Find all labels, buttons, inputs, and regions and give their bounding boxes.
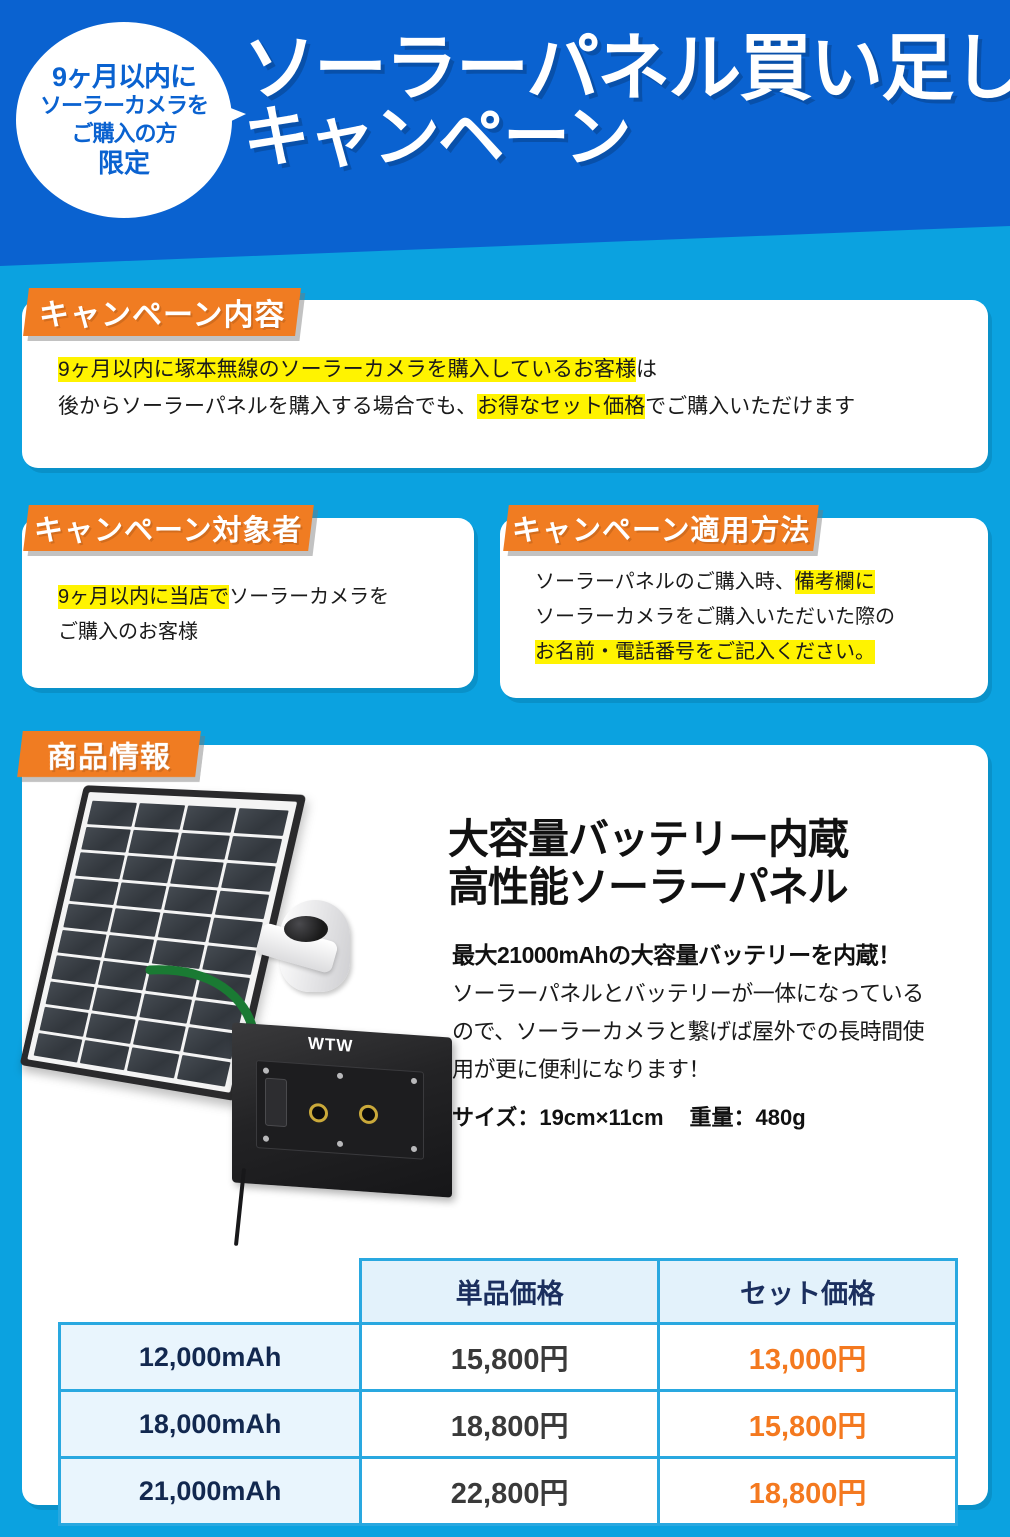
product-description: ソーラーパネルとバッテリーが一体になっている ので、ソーラーカメラと繋げば屋外で… (452, 975, 957, 1088)
headline-line-2: キャンペーン (243, 105, 1010, 170)
product-title-line-2: 高性能ソーラーパネル (448, 863, 848, 911)
method-line-1-highlight: 備考欄に (795, 570, 875, 594)
product-size: サイズ：19cm×11cm (452, 1105, 664, 1130)
table-row: 12,000mAh 15,800円 13,000円 (60, 1324, 957, 1391)
mount-pivot-knob (284, 916, 328, 942)
product-weight: 重量：480g (690, 1105, 806, 1130)
set-price-12000: 13,000円 (659, 1324, 957, 1391)
badge-campaign-method: キャンペーン適用方法 (503, 505, 819, 551)
badge-product-info-label: 商品情報 (47, 732, 171, 776)
campaign-content-text: 9ヶ月以内に塚本無線のソーラーカメラを購入しているお客様は 後からソーラーパネル… (58, 352, 948, 426)
power-switch (265, 1078, 287, 1128)
campaign-target-text: 9ヶ月以内に当店でソーラーカメラを ご購入のお客様 (58, 580, 448, 650)
product-desc-line-1: ソーラーパネルとバッテリーが一体になっている (452, 975, 957, 1013)
method-line-3: お名前・電話番号をご記入ください。 (535, 635, 965, 670)
headline-line-1: ソーラーパネル買い足し (243, 34, 1010, 105)
column-header-set-price: セット価格 (659, 1260, 957, 1324)
table-corner-cell (60, 1260, 361, 1324)
brand-mark-wtw: WTW (308, 1034, 353, 1057)
single-price-18000: 18,800円 (361, 1391, 659, 1458)
row-capacity-18000: 18,000mAh (60, 1391, 361, 1458)
bubble-line-1: 9ヶ月以内に (52, 62, 196, 92)
column-header-single-price: 単品価格 (361, 1260, 659, 1324)
content-line-2-highlight: お得なセット価格 (477, 394, 645, 419)
content-line-1: 9ヶ月以内に塚本無線のソーラーカメラを購入しているお客様は (58, 352, 948, 389)
set-price-21000: 18,800円 (659, 1458, 957, 1525)
target-line-2: ご購入のお客様 (58, 615, 448, 650)
badge-campaign-target-label: キャンペーン対象者 (34, 507, 303, 549)
header-banner: 9ヶ月以内に ソーラーカメラを ご購入の方 限定 ソーラーパネル買い足し キャン… (0, 0, 1010, 270)
content-line-1-tail: は (636, 358, 657, 381)
eligibility-bubble: 9ヶ月以内に ソーラーカメラを ご購入の方 限定 (16, 22, 232, 218)
content-line-1-highlight: 9ヶ月以内に塚本無線のソーラーカメラを購入しているお客様 (58, 357, 636, 382)
table-row: 18,000mAh 18,800円 15,800円 (60, 1391, 957, 1458)
product-title: 大容量バッテリー内蔵 高性能ソーラーパネル (448, 815, 848, 912)
product-photo: 裏面 WTW (22, 782, 422, 1112)
product-specs: サイズ：19cm×11cm重量：480g (452, 1100, 806, 1132)
target-line-1: 9ヶ月以内に当店でソーラーカメラを (58, 580, 448, 615)
bubble-line-4: 限定 (98, 149, 150, 178)
bubble-line-3: ご購入の方 (71, 122, 176, 147)
dc-port-left (309, 1103, 328, 1123)
product-desc-line-2: ので、ソーラーカメラと繋げば屋外での長時間使 (452, 1013, 957, 1051)
dc-port-right (359, 1104, 378, 1124)
target-line-1-tail: ソーラーカメラを (229, 586, 389, 608)
method-line-3-highlight: お名前・電話番号をご記入ください。 (535, 640, 875, 664)
badge-campaign-content-label: キャンペーン内容 (39, 290, 286, 334)
battery-back-panel: WTW (232, 1022, 452, 1197)
badge-campaign-content: キャンペーン内容 (23, 288, 301, 336)
badge-product-info: 商品情報 (17, 731, 201, 777)
product-title-line-1: 大容量バッテリー内蔵 (448, 815, 848, 863)
price-table: 単品価格 セット価格 12,000mAh 15,800円 13,000円 18,… (58, 1258, 958, 1526)
content-line-2-head: 後からソーラーパネルを購入する場合でも、 (58, 395, 477, 418)
content-line-2-tail: でご購入いただけます (645, 395, 855, 418)
badge-campaign-method-label: キャンペーン適用方法 (512, 507, 811, 549)
single-price-21000: 22,800円 (361, 1458, 659, 1525)
back-panel-recess (256, 1060, 424, 1160)
method-line-2: ソーラーカメラをご購入いただいた際の (535, 600, 965, 635)
row-capacity-21000: 21,000mAh (60, 1458, 361, 1525)
campaign-method-text: ソーラーパネルのご購入時、備考欄に ソーラーカメラをご購入いただいた際の お名前… (535, 565, 965, 670)
page-title: ソーラーパネル買い足し キャンペーン (243, 34, 1010, 170)
bubble-line-2: ソーラーカメラを (40, 94, 208, 119)
set-price-18000: 15,800円 (659, 1391, 957, 1458)
content-line-2: 後からソーラーパネルを購入する場合でも、お得なセット価格でご購入いただけます (58, 389, 948, 426)
method-line-1: ソーラーパネルのご購入時、備考欄に (535, 565, 965, 600)
table-row: 21,000mAh 22,800円 18,800円 (60, 1458, 957, 1525)
single-price-12000: 15,800円 (361, 1324, 659, 1391)
product-desc-line-3: 用が更に便利になります！ (452, 1051, 957, 1089)
row-capacity-12000: 12,000mAh (60, 1324, 361, 1391)
method-line-1-head: ソーラーパネルのご購入時、 (535, 571, 795, 593)
table-header-row: 単品価格 セット価格 (60, 1260, 957, 1324)
product-lead-text: 最大21000mAhの大容量バッテリーを内蔵！ (452, 936, 901, 970)
target-line-1-highlight: 9ヶ月以内に当店で (58, 585, 229, 609)
badge-campaign-target: キャンペーン対象者 (23, 505, 314, 551)
